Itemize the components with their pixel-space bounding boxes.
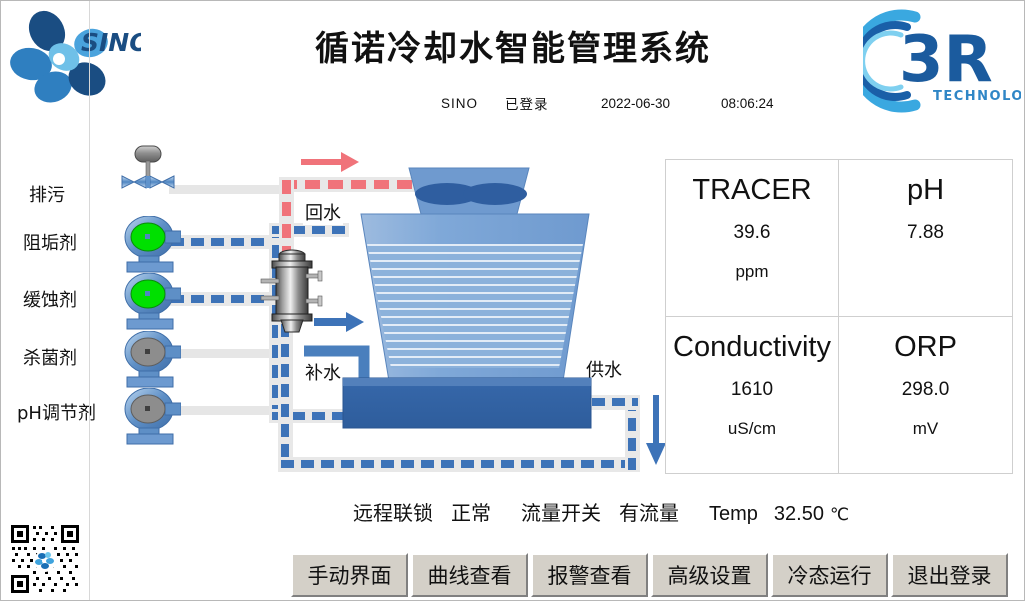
label-makeup-water: 补水 [303,359,343,385]
label-antiscalant: 阻垢剂 [23,229,77,255]
pump-ph-adjuster[interactable] [119,388,181,446]
tracer-unit: ppm [735,262,768,282]
label-biocide: 杀菌剂 [23,344,77,370]
orp-name: ORP [894,331,957,364]
ph-value: 7.88 [907,222,944,244]
label-corrosion-inhibitor: 缓蚀剂 [23,286,77,312]
measurement-cell-orp[interactable]: ORP 298.0 mV [839,317,1012,474]
remote-interlock-label: 远程联锁 [353,497,433,526]
orp-unit: mV [913,419,939,439]
orp-value: 298.0 [902,379,950,401]
measurement-cell-tracer[interactable]: TRACER 39.6 ppm [666,160,839,317]
blowdown-valve-icon[interactable] [117,144,179,200]
conductivity-name: Conductivity [673,331,831,364]
pipe-biocide [169,349,277,358]
manual-interface-button[interactable]: 手动界面 [291,553,408,597]
conductivity-value: 1610 [731,379,773,401]
sino-logo: SINO [9,9,141,107]
system-time: 08:06:24 [721,96,774,111]
advanced-settings-button[interactable]: 高级设置 [651,553,768,597]
system-date: 2022-06-30 [601,96,721,111]
alarm-view-button[interactable]: 报警查看 [531,553,648,597]
cooling-tower-icon [341,166,641,431]
left-divider [89,1,90,601]
svg-text:SINO: SINO [81,28,141,57]
tracer-value: 39.6 [734,222,771,244]
button-bar: 手动界面 曲线查看 报警查看 高级设置 冷态运行 退出登录 [291,553,1008,597]
svg-text:3R: 3R [899,23,993,97]
label-blowdown: 排污 [29,181,65,207]
page-title: 循诺冷却水智能管理系统 [263,21,763,70]
sensor-chamber-icon[interactable] [256,246,328,338]
tracer-name: TRACER [692,174,811,207]
qr-code [9,523,81,595]
temp-value: 32.50 [774,503,824,526]
pipe-ph-adjuster [169,406,277,415]
label-ph-adjuster: pH调节剂 [17,399,96,425]
label-return-water: 回水 [303,199,343,225]
status-row: 远程联锁 正常 流量开关 有流量 Temp 32.50 ℃ [353,497,849,526]
trend-view-button[interactable]: 曲线查看 [411,553,528,597]
flow-switch-value: 有流量 [619,497,679,526]
remote-interlock-value: 正常 [451,497,491,526]
pipe-main-bottom [281,460,637,468]
cold-start-button[interactable]: 冷态运行 [771,553,888,597]
ph-name: pH [907,174,944,207]
measurement-panel: TRACER 39.6 ppm pH 7.88 Conductivity 161… [665,159,1013,474]
measurement-cell-conductivity[interactable]: Conductivity 1610 uS/cm [666,317,839,474]
logged-in-user: SINO [441,96,505,111]
flow-switch-label: 流量开关 [521,497,601,526]
pump-corrosion-inhibitor[interactable] [119,273,181,331]
pump-antiscalant[interactable] [119,216,181,274]
conductivity-unit: uS/cm [728,419,776,439]
pump-biocide[interactable] [119,331,181,389]
temp-label: Temp [709,503,758,526]
pipe-blowdown [169,185,289,194]
measurement-cell-ph[interactable]: pH 7.88 [839,160,1012,317]
svg-text:TECHNOLOGY: TECHNOLOGY [933,89,1021,104]
hmi-window: SINO 3R TECHNOLOGY 循诺冷却水智能管理系统 SINO 已登录 … [0,0,1025,601]
header-status-bar: SINO 已登录 2022-06-30 08:06:24 [441,93,774,113]
3r-technology-logo: 3R TECHNOLOGY [863,5,1021,117]
pipe-antiscalant [171,238,275,246]
temp-unit: ℃ [830,505,849,525]
login-state: 已登录 [505,93,601,113]
logout-button[interactable]: 退出登录 [891,553,1008,597]
